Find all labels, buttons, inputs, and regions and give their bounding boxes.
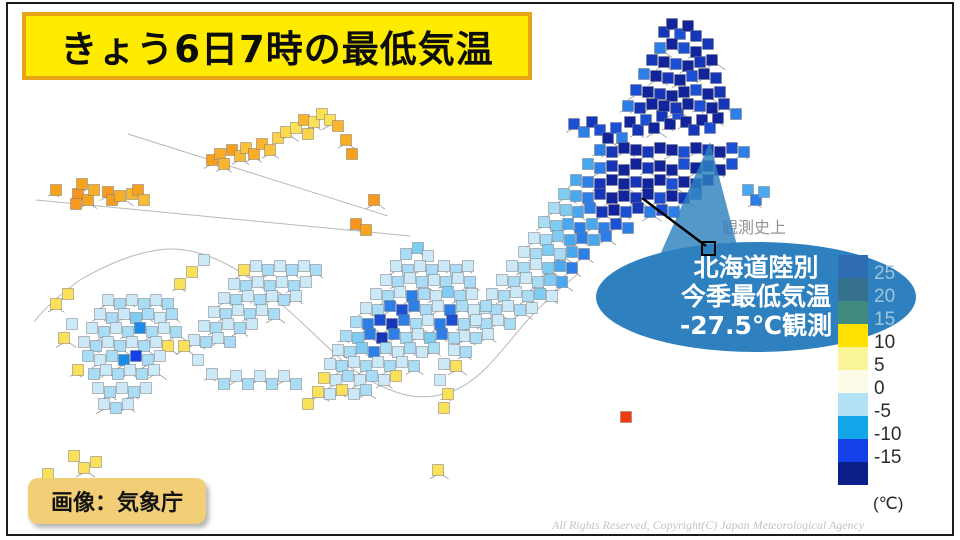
station-marker: [421, 305, 432, 316]
station-marker: [325, 359, 336, 370]
station-marker: [267, 379, 278, 390]
station-marker: [643, 87, 654, 98]
station-marker: [435, 375, 446, 386]
station-marker: [345, 347, 356, 358]
station-marker: [543, 245, 554, 256]
station-marker: [115, 191, 126, 202]
station-marker: [687, 71, 698, 82]
station-marker: [413, 329, 424, 340]
station-marker: [373, 305, 384, 316]
station-marker: [69, 451, 80, 462]
station-marker: [141, 383, 152, 394]
station-marker: [419, 289, 430, 300]
station-marker: [207, 369, 218, 380]
station-marker: [655, 43, 666, 54]
station-marker: [107, 313, 118, 324]
station-marker: [435, 319, 446, 330]
station-marker: [463, 261, 474, 272]
colorbar-band-9: [838, 462, 868, 485]
station-marker: [95, 309, 106, 320]
page-title: きょう6日7時の最低気温: [60, 19, 494, 73]
station-marker: [715, 87, 726, 98]
station-marker: [103, 337, 114, 348]
station-marker: [361, 385, 372, 396]
station-marker: [241, 281, 252, 292]
station-marker: [361, 225, 372, 236]
station-marker: [373, 357, 384, 368]
station-marker: [449, 345, 460, 356]
station-marker: [119, 355, 130, 366]
station-marker: [663, 73, 674, 84]
station-marker: [639, 69, 650, 80]
station-marker: [343, 371, 354, 382]
station-marker: [437, 329, 448, 340]
station-marker: [515, 305, 526, 316]
station-marker: [563, 219, 574, 230]
station-marker: [107, 351, 118, 362]
weather-map-screenshot: きょう6日7時の最低気温 観測史上 1月として 北海道陸別 今季最低気温 -27…: [0, 0, 960, 540]
station-marker: [689, 125, 700, 136]
station-marker: [123, 327, 134, 338]
station-marker: [539, 217, 550, 228]
station-marker: [397, 357, 408, 368]
station-marker: [193, 355, 204, 366]
title-banner: きょう6日7時の最低気温: [22, 12, 532, 80]
station-marker: [101, 365, 112, 376]
station-marker: [561, 205, 572, 216]
station-marker: [679, 43, 690, 54]
station-marker: [675, 75, 686, 86]
station-marker: [413, 243, 424, 254]
station-marker: [583, 159, 594, 170]
station-marker: [131, 351, 142, 362]
station-marker: [103, 295, 114, 306]
station-marker: [433, 301, 444, 312]
station-marker: [397, 305, 408, 316]
station-marker: [703, 89, 714, 100]
station-marker: [647, 99, 658, 110]
station-marker: [219, 293, 230, 304]
station-marker: [265, 281, 276, 292]
station-marker: [481, 301, 492, 312]
station-marker: [519, 263, 530, 274]
station-marker: [547, 291, 558, 302]
copyright-notice: All Rights Reserved, Copyright(C) Japan …: [552, 518, 864, 533]
station-marker: [691, 47, 702, 58]
station-marker: [575, 223, 586, 234]
station-marker: [143, 355, 154, 366]
station-marker: [127, 337, 138, 348]
colorbar-band-4: [838, 347, 868, 370]
station-marker: [127, 295, 138, 306]
station-marker: [375, 315, 386, 326]
station-marker: [683, 21, 694, 32]
station-marker: [163, 341, 174, 352]
station-marker: [175, 279, 186, 290]
station-marker: [243, 291, 254, 302]
station-marker: [429, 343, 440, 354]
station-marker: [143, 309, 154, 320]
station-marker: [583, 177, 594, 188]
station-marker: [611, 123, 622, 134]
station-marker: [337, 385, 348, 396]
station-marker: [459, 319, 470, 330]
station-marker: [51, 185, 62, 196]
station-marker: [381, 343, 392, 354]
station-marker: [377, 333, 388, 344]
station-marker: [415, 261, 426, 272]
station-marker: [355, 375, 366, 386]
station-marker: [699, 69, 710, 80]
station-marker: [209, 307, 220, 318]
station-marker: [671, 59, 682, 70]
colorbar-band-2: [838, 301, 868, 324]
station-marker: [199, 255, 210, 266]
callout-line-description: 今季最低気温: [681, 283, 831, 311]
station-marker: [389, 329, 400, 340]
station-marker: [565, 235, 576, 246]
station-marker: [369, 195, 380, 206]
station-marker: [497, 275, 508, 286]
callout-line-value: -27.5℃観測: [680, 312, 832, 340]
colorbar-band-1: [838, 278, 868, 301]
station-marker: [449, 333, 460, 344]
station-marker: [691, 31, 702, 42]
station-marker: [491, 305, 502, 316]
station-marker: [291, 291, 302, 302]
station-marker: [439, 261, 450, 272]
station-marker: [405, 273, 416, 284]
station-marker: [695, 57, 706, 68]
station-marker: [289, 281, 300, 292]
station-marker: [253, 277, 264, 288]
station-marker: [59, 333, 70, 344]
station-marker: [331, 375, 342, 386]
station-marker: [429, 275, 440, 286]
station-marker: [443, 389, 454, 400]
station-marker: [567, 247, 578, 258]
station-marker: [225, 337, 236, 348]
station-marker: [541, 235, 552, 246]
station-marker: [303, 129, 314, 140]
station-marker: [89, 369, 100, 380]
station-marker: [219, 379, 230, 390]
station-marker: [583, 193, 594, 204]
station-marker: [179, 341, 190, 352]
station-marker: [459, 331, 470, 342]
station-marker: [357, 343, 368, 354]
station-marker: [519, 247, 530, 258]
station-marker: [425, 333, 436, 344]
station-marker: [341, 331, 352, 342]
station-marker: [667, 19, 678, 30]
station-marker: [703, 39, 714, 50]
station-marker: [655, 89, 666, 100]
station-marker: [199, 321, 210, 332]
station-marker: [503, 301, 514, 312]
station-marker: [63, 289, 74, 300]
station-marker: [521, 273, 532, 284]
station-marker: [457, 301, 468, 312]
station-marker: [659, 57, 670, 68]
station-marker: [233, 305, 244, 316]
station-marker: [395, 287, 406, 298]
station-marker: [125, 365, 136, 376]
station-marker: [391, 371, 402, 382]
callout-leader-line: [640, 196, 730, 266]
station-marker: [393, 347, 404, 358]
station-marker: [99, 399, 110, 410]
station-marker: [105, 387, 116, 398]
station-marker: [299, 115, 310, 126]
station-marker: [505, 319, 516, 330]
station-marker: [129, 387, 140, 398]
station-marker: [451, 361, 462, 372]
station-marker: [211, 323, 222, 334]
colorbar-band-3: [838, 324, 868, 347]
station-marker: [215, 149, 226, 160]
station-marker: [83, 195, 94, 206]
station-marker: [573, 207, 584, 218]
station-marker: [301, 277, 312, 288]
station-marker: [579, 249, 590, 260]
station-marker: [453, 273, 464, 284]
station-marker: [571, 175, 582, 186]
station-marker: [231, 295, 242, 306]
station-marker: [151, 337, 162, 348]
station-marker: [93, 383, 104, 394]
station-marker: [665, 119, 676, 130]
station-marker: [553, 231, 564, 242]
station-marker: [471, 333, 482, 344]
station-marker: [659, 101, 670, 112]
station-marker: [265, 145, 276, 156]
station-marker: [387, 319, 398, 330]
station-marker: [77, 179, 88, 190]
colorbar-band-7: [838, 416, 868, 439]
station-marker: [281, 127, 292, 138]
station-marker: [385, 361, 396, 372]
station-marker: [91, 341, 102, 352]
station-marker: [423, 315, 434, 326]
station-marker: [511, 287, 522, 298]
station-marker: [269, 309, 280, 320]
station-marker: [405, 343, 416, 354]
station-marker: [423, 251, 434, 262]
station-marker: [707, 103, 718, 114]
station-marker: [713, 113, 724, 124]
station-marker: [267, 291, 278, 302]
station-marker: [255, 295, 266, 306]
station-marker: [87, 323, 98, 334]
station-marker: [683, 99, 694, 110]
station-marker: [115, 299, 126, 310]
colorbar-label-20: 20: [874, 287, 895, 306]
station-marker: [149, 365, 160, 376]
station-marker: [447, 315, 458, 326]
station-marker: [579, 127, 590, 138]
station-marker: [311, 265, 322, 276]
colorbar-label-neg5: -5: [874, 402, 891, 421]
station-marker: [635, 103, 646, 114]
station-marker: [381, 275, 392, 286]
station-marker: [79, 337, 90, 348]
station-marker: [337, 361, 348, 372]
station-marker: [679, 87, 690, 98]
station-marker: [471, 315, 482, 326]
station-marker: [363, 319, 374, 330]
station-marker: [133, 185, 144, 196]
colorbar-label-0: 0: [874, 379, 885, 398]
station-marker: [275, 261, 286, 272]
temperature-colorbar: [838, 255, 868, 485]
station-marker: [119, 309, 130, 320]
station-marker: [409, 301, 420, 312]
station-marker: [647, 55, 658, 66]
station-marker: [147, 327, 158, 338]
source-credit-box: 画像：気象庁: [28, 478, 206, 524]
colorbar-band-6: [838, 393, 868, 416]
station-marker: [313, 387, 324, 398]
station-marker: [667, 39, 678, 50]
station-marker: [417, 347, 428, 358]
station-marker: [361, 361, 372, 372]
station-marker: [73, 365, 84, 376]
station-marker: [73, 189, 84, 200]
station-marker: [291, 379, 302, 390]
station-marker: [433, 465, 444, 476]
station-marker: [91, 457, 102, 468]
station-marker: [683, 61, 694, 72]
station-marker: [333, 121, 344, 132]
station-marker: [439, 359, 450, 370]
station-marker: [167, 309, 178, 320]
station-marker: [551, 221, 562, 232]
station-marker: [483, 329, 494, 340]
station-marker: [557, 277, 568, 288]
station-marker: [507, 261, 518, 272]
station-marker: [695, 101, 706, 112]
station-marker: [527, 303, 538, 314]
station-marker: [731, 109, 742, 120]
station-marker: [349, 389, 360, 400]
station-marker: [465, 277, 476, 288]
station-marker: [117, 383, 128, 394]
station-marker: [401, 333, 412, 344]
colorbar-label-neg10: -10: [874, 425, 901, 444]
station-marker: [543, 263, 554, 274]
station-marker: [277, 277, 288, 288]
station-marker: [257, 305, 268, 316]
station-marker: [691, 85, 702, 96]
station-marker: [371, 289, 382, 300]
station-marker: [137, 369, 148, 380]
station-marker: [287, 265, 298, 276]
station-marker: [649, 123, 660, 134]
station-marker: [155, 313, 166, 324]
station-marker: [349, 357, 360, 368]
station-marker: [213, 333, 224, 344]
station-marker: [439, 403, 450, 414]
station-marker: [115, 341, 126, 352]
colorbar-band-0: [838, 255, 868, 278]
station-marker: [79, 463, 90, 474]
station-marker: [633, 125, 644, 136]
colorbar-unit-label: (℃): [873, 494, 903, 514]
station-marker: [251, 261, 262, 272]
station-marker: [325, 389, 336, 400]
station-marker: [229, 279, 240, 290]
station-marker: [531, 249, 542, 260]
station-marker: [409, 361, 420, 372]
station-marker: [67, 319, 78, 330]
source-credit-label: 画像：気象庁: [51, 485, 183, 517]
station-marker: [445, 305, 456, 316]
station-marker: [427, 265, 438, 276]
station-marker: [135, 323, 146, 334]
station-marker: [577, 233, 588, 244]
station-marker: [249, 149, 260, 160]
station-marker: [263, 265, 274, 276]
station-marker: [351, 317, 362, 328]
station-marker: [171, 327, 182, 338]
station-marker: [431, 291, 442, 302]
station-marker: [231, 371, 242, 382]
station-marker: [567, 263, 578, 274]
station-marker: [139, 195, 150, 206]
station-marker: [711, 73, 722, 84]
station-marker: [51, 299, 62, 310]
station-marker: [467, 289, 478, 300]
station-marker: [379, 375, 390, 386]
station-marker: [585, 203, 596, 214]
station-marker: [361, 303, 372, 314]
station-marker: [651, 71, 662, 82]
colorbar-label-25: 25: [874, 264, 895, 283]
station-marker: [559, 189, 570, 200]
station-marker: [239, 265, 250, 276]
station-marker: [83, 351, 94, 362]
station-marker: [353, 333, 364, 344]
station-marker: [341, 135, 352, 146]
station-marker: [201, 337, 212, 348]
station-marker: [223, 319, 234, 330]
station-marker: [347, 149, 358, 160]
station-marker: [131, 313, 142, 324]
station-marker: [367, 371, 378, 382]
station-marker: [469, 305, 480, 316]
station-marker: [187, 267, 198, 278]
station-marker: [255, 371, 266, 382]
station-marker: [369, 347, 380, 358]
station-marker: [245, 309, 256, 320]
station-marker: [631, 85, 642, 96]
station-marker: [671, 103, 682, 114]
station-marker: [71, 199, 82, 210]
station-marker: [111, 323, 122, 334]
station-marker: [247, 319, 258, 330]
colorbar-label-5: 5: [874, 356, 885, 375]
station-marker: [219, 159, 230, 170]
station-marker: [279, 295, 290, 306]
station-marker: [113, 369, 124, 380]
station-marker: [139, 341, 150, 352]
station-marker: [443, 287, 454, 298]
station-marker: [407, 291, 418, 302]
station-marker: [89, 185, 100, 196]
station-marker: [535, 289, 546, 300]
colorbar-label-15: 15: [874, 310, 895, 329]
